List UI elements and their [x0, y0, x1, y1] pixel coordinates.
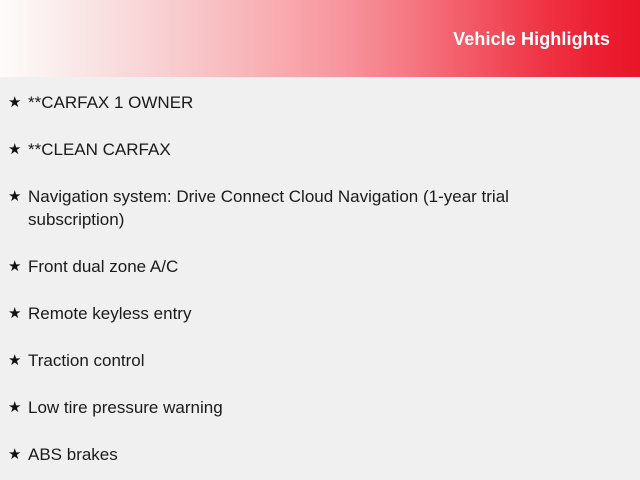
list-item-label: Remote keyless entry: [28, 302, 568, 325]
list-item-label: **CARFAX 1 OWNER: [28, 91, 568, 114]
list-item: ★ **CLEAN CARFAX: [0, 138, 640, 161]
list-item-label: Navigation system: Drive Connect Cloud N…: [28, 185, 568, 231]
list-item-label: Front dual zone A/C: [28, 255, 568, 278]
list-item: ★ ABS brakes: [0, 443, 640, 466]
star-bullet-icon: ★: [8, 302, 28, 325]
list-item-label: ABS brakes: [28, 443, 568, 466]
star-bullet-icon: ★: [8, 396, 28, 419]
page-title: Vehicle Highlights: [453, 28, 610, 50]
vehicle-highlights-page: Vehicle Highlights ★ **CARFAX 1 OWNER ★ …: [0, 0, 640, 480]
list-item-label: Low tire pressure warning: [28, 396, 568, 419]
header-banner: Vehicle Highlights: [0, 0, 640, 77]
star-bullet-icon: ★: [8, 349, 28, 372]
vehicle-highlights-list: ★ **CARFAX 1 OWNER ★ **CLEAN CARFAX ★ Na…: [0, 77, 640, 466]
list-item: ★ **CARFAX 1 OWNER: [0, 91, 640, 114]
list-item: ★ Traction control: [0, 349, 640, 372]
list-item-label: Traction control: [28, 349, 568, 372]
list-item: ★ Navigation system: Drive Connect Cloud…: [0, 185, 640, 231]
star-bullet-icon: ★: [8, 91, 28, 114]
list-item: ★ Low tire pressure warning: [0, 396, 640, 419]
star-bullet-icon: ★: [8, 138, 28, 161]
list-item: ★ Remote keyless entry: [0, 302, 640, 325]
list-item: ★ Front dual zone A/C: [0, 255, 640, 278]
star-bullet-icon: ★: [8, 255, 28, 278]
list-item-label: **CLEAN CARFAX: [28, 138, 568, 161]
star-bullet-icon: ★: [8, 443, 28, 466]
star-bullet-icon: ★: [8, 185, 28, 208]
